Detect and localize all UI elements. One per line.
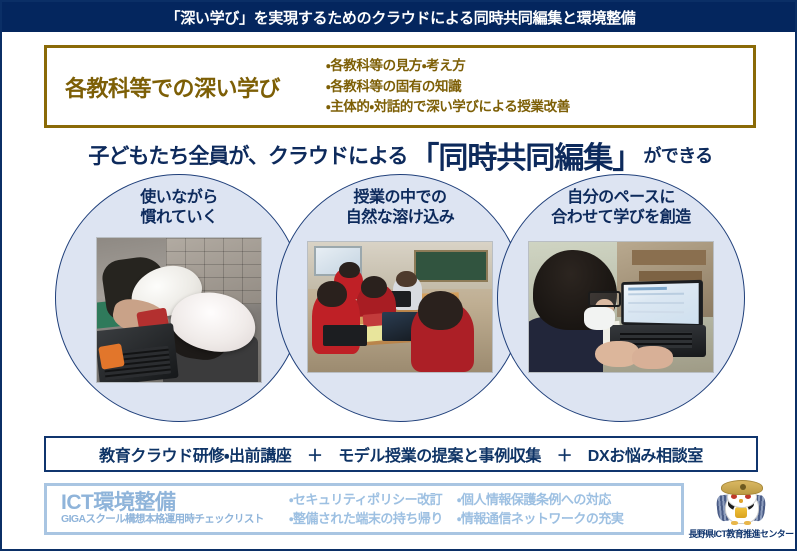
photo-classroom-students-laptops	[307, 241, 493, 373]
deep-learning-bullet-3: ・主体的・対話的で深い学びによる授業改善	[326, 97, 570, 117]
photo-2-head-1	[317, 281, 346, 307]
photo-student-desk-laptop	[528, 241, 714, 373]
ict-bullet-3: ・整備された端末の持ち帰り	[289, 510, 443, 528]
circle-1-label-line1: 使いながら	[56, 188, 302, 208]
organization-name: 長野県ICT教育推進センター	[688, 527, 793, 540]
circle-group: 使いながら 慣れていく 授業の中での 自然な溶け込み	[2, 174, 797, 424]
headline-emphasis-text: 「同時共同編集」	[407, 133, 643, 177]
main-headline: 子どもたち全員が、クラウドによる 「同時共同編集」 ができる	[2, 135, 797, 175]
photo-3-laptop-screen	[624, 283, 698, 324]
circle-1-label: 使いながら 慣れていく	[56, 188, 302, 228]
photo-3-hand-right	[632, 346, 672, 369]
circle-2-label-line1: 授業の中での	[277, 188, 523, 208]
deep-learning-bullet-list: ・各教科等の見方・考え方 ・各教科等の固有の知識 ・主体的・対話的で深い学びによ…	[326, 56, 570, 117]
support-services-box: 教育クラウド研修・出前講座 ＋ モデル授業の提案と事例収集 ＋ DXお悩み相談室	[44, 436, 758, 472]
photo-3-student-glasses	[588, 291, 621, 307]
deep-learning-bullet-1: ・各教科等の見方・考え方	[326, 56, 570, 76]
circle-2-label: 授業の中での 自然な溶け込み	[277, 188, 523, 228]
circle-item-3: 自分のペースに 合わせて学びを創造	[497, 174, 745, 422]
photo-3-student-mask	[584, 307, 615, 330]
mascot-held-item	[735, 507, 747, 518]
mascot-straw-hat	[721, 480, 763, 495]
ict-bullet-2: ・個人情報保護条例への対応	[457, 491, 623, 509]
circle-3-label-line1: 自分のペースに	[498, 188, 744, 208]
photo-1-orange-object	[98, 343, 125, 370]
circle-item-2: 授業の中での 自然な溶け込み	[276, 174, 524, 422]
headline-tail-text: ができる	[643, 142, 712, 168]
ict-subtitle: GIGAスクール構想本格運用時チェックリスト	[61, 514, 287, 526]
circle-2-label-line2: 自然な溶け込み	[277, 208, 523, 228]
page-title: 「深い学び」を実現するためのクラウドによる同時共同編集と環境整備	[166, 7, 636, 28]
mascot-foot-left	[731, 521, 738, 525]
photo-2-laptop-1	[323, 325, 367, 346]
photo-students-outdoors-laptop	[96, 237, 262, 383]
organization-logo: 長野県ICT教育推進センター	[688, 478, 794, 540]
ict-environment-box: ICT環境整備 GIGAスクール構想本格運用時チェックリスト ・セキュリティポリ…	[44, 483, 684, 535]
ict-bullet-1: ・セキュリティポリシー改訂	[289, 491, 443, 509]
slide-canvas: 「深い学び」を実現するためのクラウドによる同時共同編集と環境整備 各教科等での深…	[0, 0, 797, 551]
ict-bullet-list: ・セキュリティポリシー改訂 ・個人情報保護条例への対応 ・整備された端末の持ち帰…	[289, 491, 623, 527]
photo-2-head-5	[339, 262, 359, 279]
deep-learning-bullet-2: ・各教科等の固有の知識	[326, 77, 570, 97]
deep-learning-heading: 各教科等での深い学び	[65, 71, 280, 103]
circle-1-label-line2: 慣れていく	[56, 208, 302, 228]
mascot-owl-icon	[709, 479, 773, 525]
circle-item-1: 使いながら 慣れていく	[55, 174, 303, 422]
photo-2-chalkboard	[414, 250, 488, 283]
mascot-foot-right	[744, 521, 751, 525]
circle-3-label-line2: 合わせて学びを創造	[498, 208, 744, 228]
ict-title: ICT環境整備	[61, 492, 287, 514]
mascot-beak	[739, 499, 743, 503]
photo-3-shelf-upper	[632, 250, 706, 266]
circle-3-label: 自分のペースに 合わせて学びを創造	[498, 188, 744, 228]
ict-bullet-4: ・情報通信ネットワークの充実	[457, 510, 623, 528]
slide-title-bar: 「深い学び」を実現するためのクラウドによる同時共同編集と環境整備	[2, 2, 797, 32]
photo-2-head-3	[418, 291, 462, 330]
support-services-text: 教育クラウド研修・出前講座 ＋ モデル授業の提案と事例収集 ＋ DXお悩み相談室	[99, 442, 703, 466]
headline-lead-text: 子どもたち全員が、クラウドによる	[88, 140, 407, 170]
photo-2-head-2	[361, 276, 387, 298]
ict-heading-group: ICT環境整備 GIGAスクール構想本格運用時チェックリスト	[61, 492, 287, 526]
photo-2-head-4	[396, 271, 416, 288]
deep-learning-box: 各教科等での深い学び ・各教科等の見方・考え方 ・各教科等の固有の知識 ・主体的…	[44, 45, 756, 128]
